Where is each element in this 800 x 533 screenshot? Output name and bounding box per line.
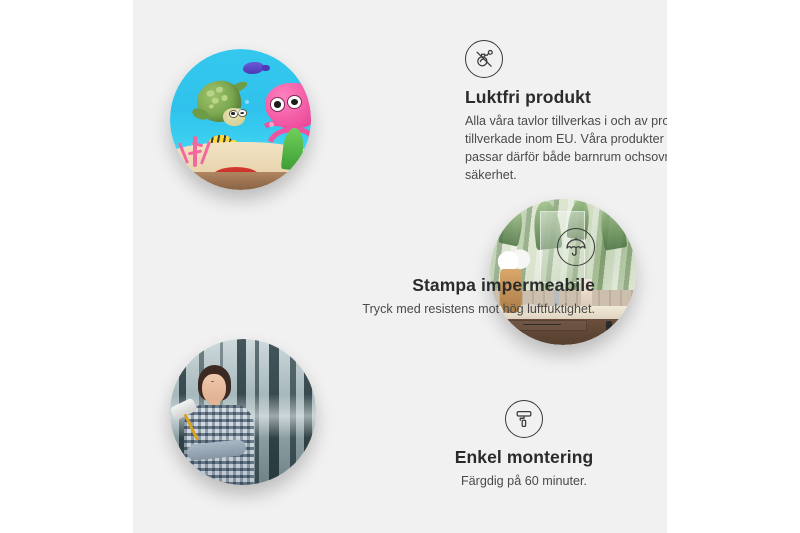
fish-blue [243,62,264,75]
no-smell-perfume-icon [465,40,503,78]
feature-block-easy-mounting: Enkel montering Färgdig på 60 minuter. [433,400,615,491]
content-panel: Luktfri produkt Alla våra tavlor tillver… [133,0,667,533]
feature-mounting-description: Färgdig på 60 minuter. [433,473,615,491]
wooden-vanity [496,319,636,345]
photo-sea-inner [170,49,311,190]
woman-with-roller [179,365,261,485]
paint-roller-icon [505,400,543,438]
feature-odorless-icon-wrap [465,40,667,78]
feature-mounting-icon-wrap [433,400,615,438]
photo-sea-mural[interactable] [170,49,311,190]
feature-waterproof-icon-wrap [313,228,595,266]
screenshot-root: Luktfri produkt Alla våra tavlor tillver… [0,0,800,533]
coral-pink [176,125,218,167]
feature-waterproof-description: Tryck med resistens mot hög luftfuktighe… [313,301,595,319]
feature-block-odorless: Luktfri produkt Alla våra tavlor tillver… [465,40,667,185]
feature-block-waterproof: Stampa impermeabile Tryck med resistens … [313,228,595,319]
sea-floor-strip [170,172,311,190]
photo-painter-inner [170,339,316,485]
octopus-eye-right [287,95,302,109]
feature-mounting-title: Enkel montering [433,447,615,468]
photo-painter-mural[interactable] [170,339,316,485]
umbrella-icon [557,228,595,266]
feature-odorless-description: Alla våra tavlor tillverkas i och av pro… [465,113,667,185]
feature-odorless-title: Luktfri produkt [465,87,667,108]
feature-waterproof-title: Stampa impermeabile [313,275,595,296]
octopus-eye-left [270,97,285,111]
